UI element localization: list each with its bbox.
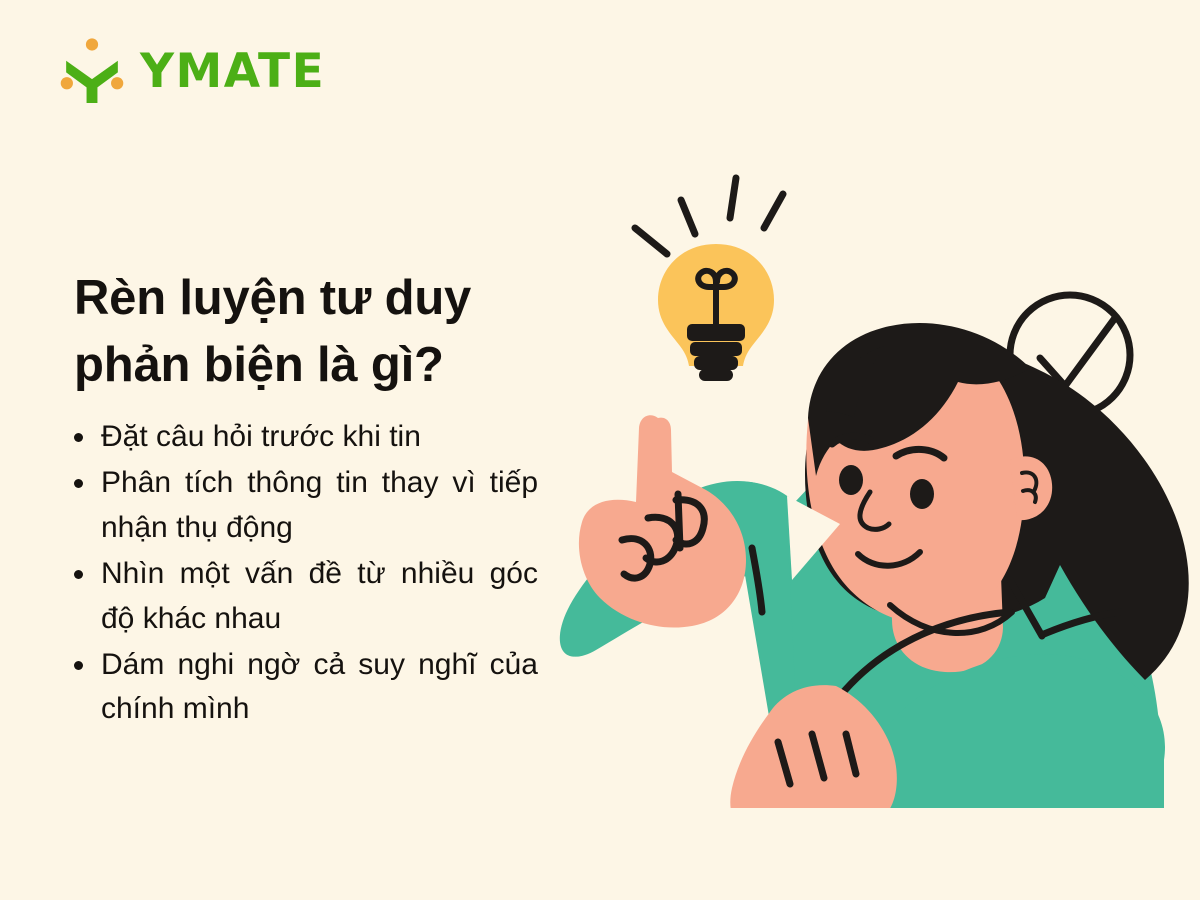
lightbulb-rays-icon [635,178,783,254]
eye-right [910,479,934,509]
logo-dot-left [61,77,73,89]
list-item: Phân tích thông tin thay vì tiếp nhận th… [68,461,538,550]
list-item: Nhìn một vấn đề từ nhiều góc độ khác nha… [68,552,538,641]
bullet-dot-icon [74,661,83,670]
logo-dot-top [86,38,98,50]
lightbulb-icon [658,244,774,381]
ray-right [764,194,783,228]
hero-illustration [540,150,1200,840]
bullet-dot-icon [74,479,83,488]
bullet-dot-icon [74,433,83,442]
poster-canvas: YMATE Rèn luyện tư duy phản biện là gì? … [0,0,1200,900]
list-item-label: Phân tích thông tin thay vì tiếp nhận th… [101,466,538,543]
list-item-label: Nhìn một vấn đề từ nhiều góc độ khác nha… [101,557,538,634]
ray-left-mid [681,200,695,234]
woman-pointing-illustration [540,150,1200,840]
benefits-list: Đặt câu hỏi trước khi tin Phân tích thôn… [68,415,538,734]
bullet-dot-icon [74,570,83,579]
bulb-base [687,324,745,381]
list-item: Dám nghi ngờ cả suy nghĩ của chính mình [68,643,538,732]
eye-left [839,465,863,495]
list-item: Đặt câu hỏi trước khi tin [68,415,538,459]
logo-dot-right [111,77,123,89]
ymate-y-leaf-mark-icon [58,37,126,105]
brand-wordmark: YMATE [140,48,325,95]
check-mark [1040,318,1115,386]
ray-left [635,228,667,254]
brand-logo[interactable]: YMATE [58,36,325,106]
list-item-label: Đặt câu hỏi trước khi tin [101,420,421,453]
list-item-label: Dám nghi ngờ cả suy nghĩ của chính mình [101,648,538,725]
ray-top [730,178,736,218]
page-title: Rèn luyện tư duy phản biện là gì? [74,265,574,400]
